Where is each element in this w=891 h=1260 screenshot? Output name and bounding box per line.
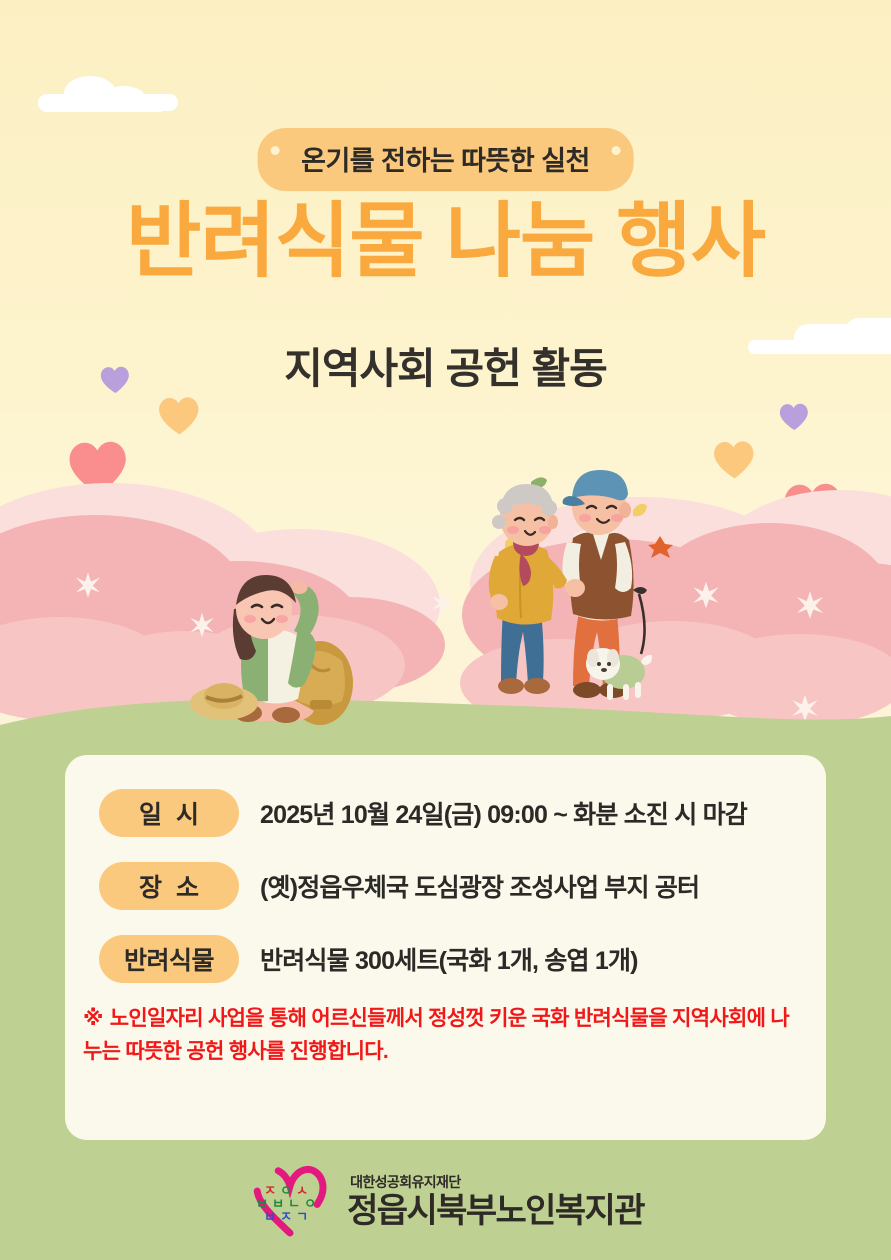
leaf-maple: [648, 536, 673, 558]
info-value-location: (옛)정읍우체국 도심광장 조성사업 부지 공터: [260, 868, 699, 904]
cloud-top-left: [38, 72, 208, 114]
illustration-elderly-couple: [483, 462, 678, 717]
info-label-plants: 반려식물: [99, 935, 239, 983]
badge-eyelet-left-icon: [270, 146, 279, 155]
org-name: 정읍시북부노인복지관: [347, 1194, 644, 1228]
heart-purple-right-icon: [779, 402, 810, 431]
leaf-ginkgo: [633, 504, 647, 517]
info-row-datetime: 일시 2025년 10월 24일(금) 09:00 ~ 화분 소진 시 마감: [99, 787, 799, 839]
badge-eyelet-right-icon: [612, 146, 621, 155]
info-label-location: 장소: [99, 862, 239, 910]
info-rows: 일시 2025년 10월 24일(금) 09:00 ~ 화분 소진 시 마감 장…: [99, 787, 799, 1006]
org-parent-name: 대한성공회유지재단: [350, 1172, 644, 1192]
poster-title: 반려식물 나눔 행사: [0, 198, 891, 287]
logo-glyph: ㅂ: [264, 1211, 276, 1224]
tagline-badge: 온기를 전하는 따뜻한 실천: [257, 128, 634, 191]
footnote-text: 노인일자리 사업을 통해 어르신들께서 정성껏 키운 국화 반려식물을 지역사회…: [83, 1007, 789, 1063]
info-value-datetime: 2025년 10월 24일(금) 09:00 ~ 화분 소진 시 마감: [260, 795, 747, 831]
info-row-plants: 반려식물 반려식물 300세트(국화 1개, 송엽 1개): [99, 933, 799, 985]
poster-root: 온기를 전하는 따뜻한 실천 반려식물 나눔 행사 지역사회 공헌 활동 일시 …: [0, 0, 891, 1260]
logo-text-block: 대한성공회유지재단 정읍시북부노인복지관: [347, 1172, 644, 1228]
tagline-text: 온기를 전하는 따뜻한 실천: [301, 139, 590, 178]
footer-logo: ㅈ ㅇ ㅅ ㅂ ㅂ ㄴ ㅇ ㅂ ㅈ ㄱ 대한성공회유지재단 정읍시북부노: [0, 1155, 891, 1245]
logo-glyph: ㅈ: [280, 1211, 292, 1224]
info-row-location: 장소 (옛)정읍우체국 도심광장 조성사업 부지 공터: [99, 860, 799, 912]
poster-subtitle: 지역사회 공헌 활동: [0, 335, 891, 396]
illustration-sitting-girl: [190, 565, 375, 730]
logo-glyph-row-3: ㅂ ㅈ ㄱ: [255, 1211, 317, 1224]
footnote-mark-icon: ※: [83, 1007, 103, 1030]
heart-orange-left-icon: [157, 395, 200, 436]
logo-mark-icon: ㅈ ㅇ ㅅ ㅂ ㅂ ㄴ ㅇ ㅂ ㅈ ㄱ: [247, 1159, 333, 1241]
info-label-datetime: 일시: [99, 789, 239, 837]
footnote: ※노인일자리 사업을 통해 어르신들께서 정성껏 키운 국화 반려식물을 지역사…: [83, 1003, 807, 1068]
logo-glyph-stack: ㅈ ㅇ ㅅ ㅂ ㅂ ㄴ ㅇ ㅂ ㅈ ㄱ: [255, 1185, 317, 1224]
info-value-plants: 반려식물 300세트(국화 1개, 송엽 1개): [260, 941, 638, 977]
info-card: 일시 2025년 10월 24일(금) 09:00 ~ 화분 소진 시 마감 장…: [65, 755, 826, 1140]
logo-glyph: ㄱ: [296, 1211, 308, 1224]
